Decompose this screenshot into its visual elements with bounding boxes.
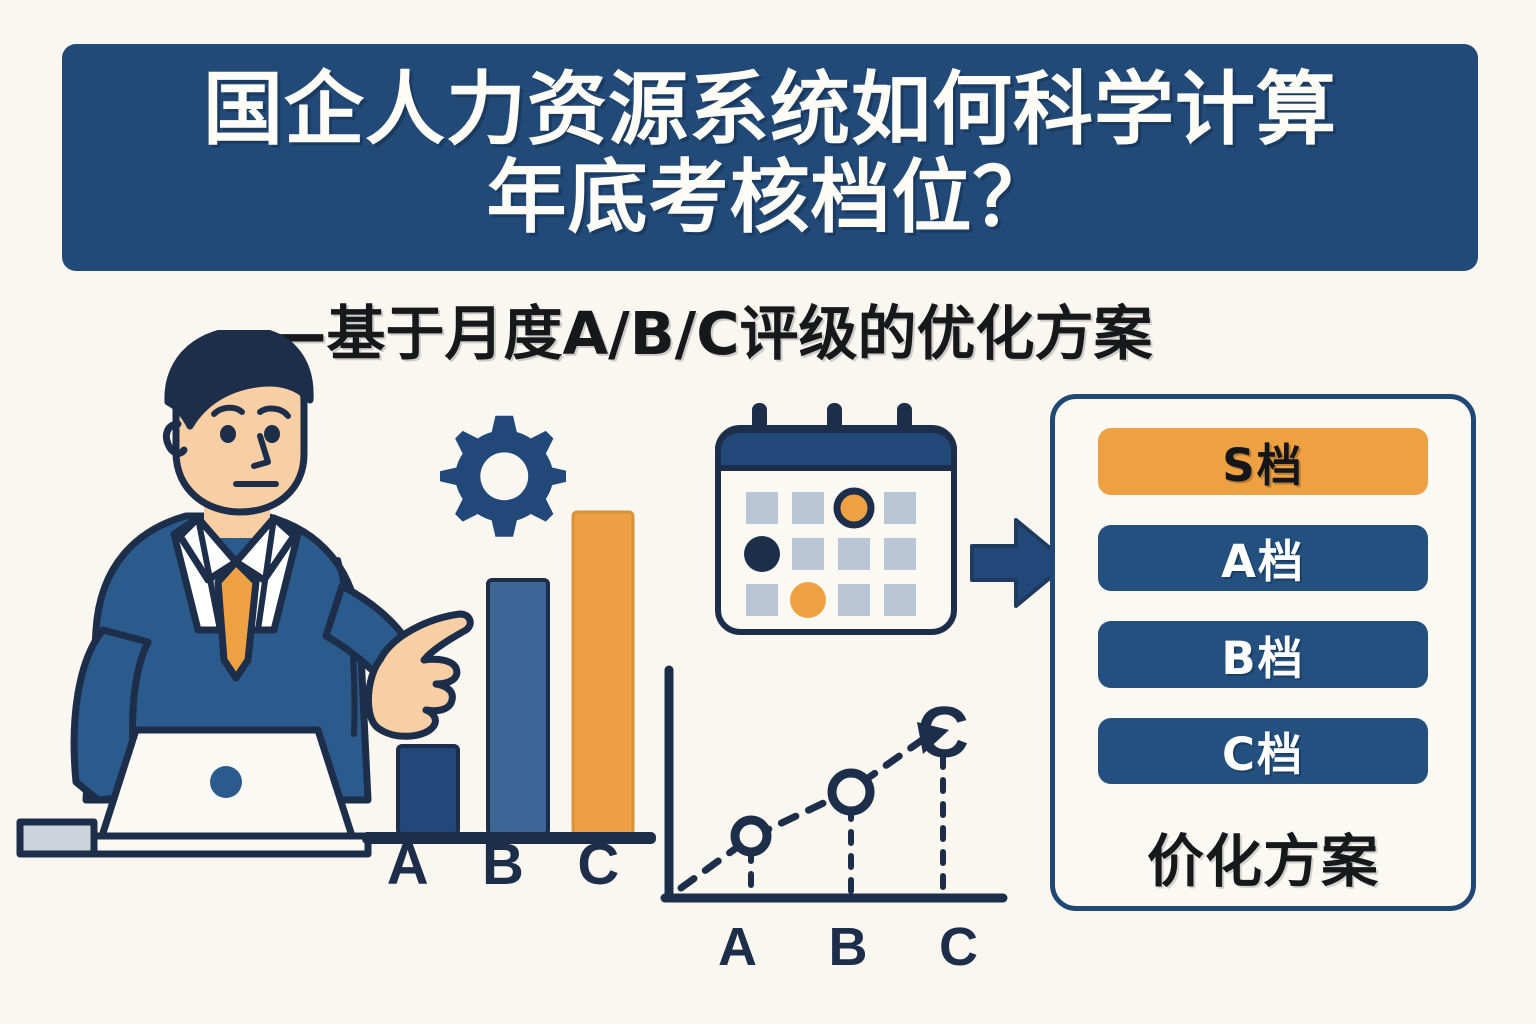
bar-a [398, 746, 458, 834]
line-chart-point-a [735, 820, 767, 852]
bar-chart-labels: A B C [360, 836, 646, 894]
bar-label-a: A [387, 836, 429, 894]
bar-label-b: B [482, 836, 524, 894]
line-label-a: A [718, 920, 757, 974]
bar-b [488, 580, 548, 834]
calendar-highlight-navy [744, 536, 780, 572]
grade-panel: S档 A档 B档 C档 价化方案 [1050, 394, 1476, 911]
calendar-icon [700, 400, 970, 650]
grade-badge-c[interactable]: C档 [1098, 718, 1428, 785]
grade-badge-a[interactable]: A档 [1098, 525, 1428, 592]
bar-label-c: C [577, 836, 619, 894]
line-label-b: B [829, 920, 868, 974]
grade-badge-b[interactable]: B档 [1098, 621, 1428, 688]
page-title-line-2: 年底考核档位？ [487, 156, 1054, 239]
bar-c [573, 512, 633, 834]
line-chart-annotation-c: C [917, 693, 969, 773]
calendar-highlight-orange [790, 582, 826, 618]
line-chart: C [655, 660, 1025, 930]
page-title-line-1: 国企人力资源系统如何科学计算 [203, 68, 1337, 151]
title-banner: 国企人力资源系统如何科学计算 年底考核档位？ [62, 44, 1478, 271]
line-label-c: C [939, 920, 978, 974]
line-chart-labels: A B C [718, 920, 978, 974]
calendar-highlight-orange-ring [837, 491, 871, 525]
grade-badge-s[interactable]: S档 [1098, 428, 1428, 495]
poster-canvas: 国企人力资源系统如何科学计算 年底考核档位？ —基于月度A/B/C评级的优化方案 [0, 0, 1536, 1024]
line-chart-point-b [832, 773, 870, 811]
line-chart-trend [681, 738, 925, 888]
grade-panel-footer: 价化方案 [1147, 816, 1379, 898]
